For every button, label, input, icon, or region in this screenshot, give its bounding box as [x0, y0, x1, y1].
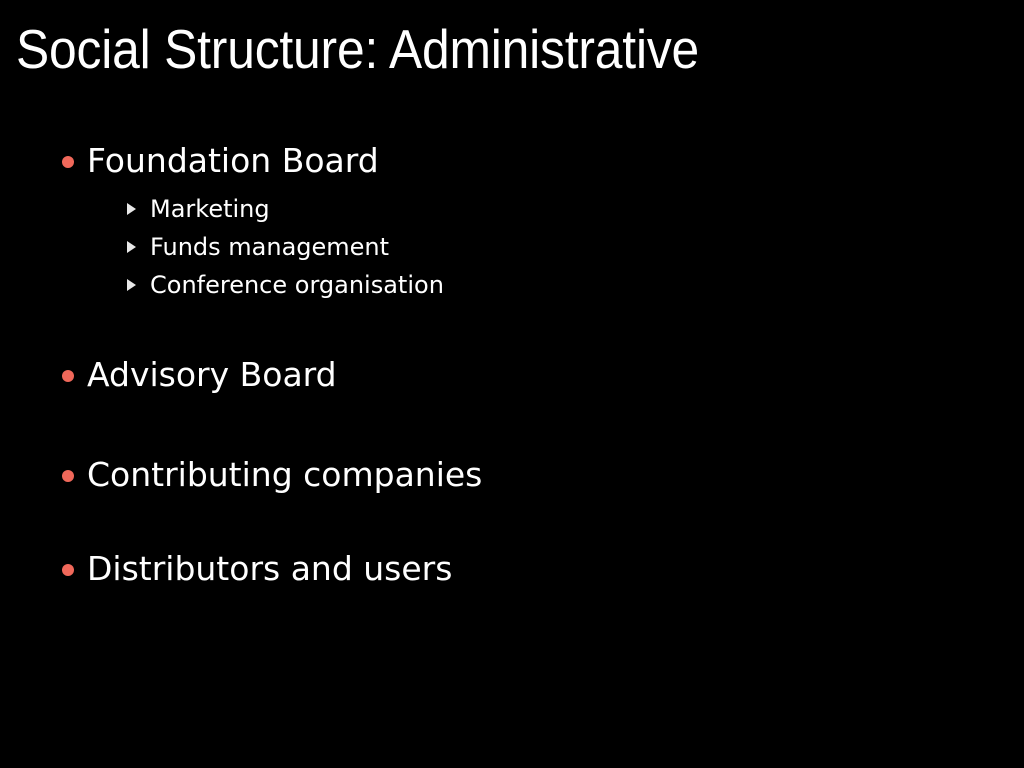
list-item[interactable]: Contributing companies	[0, 446, 1024, 504]
list-item[interactable]: Advisory Board	[0, 346, 1024, 404]
bullet-row[interactable]: Distributors and users	[0, 540, 1024, 598]
sub-list-item[interactable]: Conference organisation	[0, 266, 1024, 304]
sub-bullet-label: Conference organisation	[150, 266, 444, 304]
spacer	[0, 522, 1024, 540]
slide-content-list: Foundation Board Marketing Funds managem…	[0, 132, 1024, 598]
filled-circle-bullet-icon	[62, 470, 74, 482]
sub-list: Marketing Funds management Conference or…	[0, 190, 1024, 304]
sub-list-item[interactable]: Funds management	[0, 228, 1024, 266]
bullet-row[interactable]: Contributing companies	[0, 446, 1024, 504]
right-triangle-bullet-icon	[127, 241, 136, 253]
bullet-row[interactable]: Foundation Board	[0, 132, 1024, 190]
filled-circle-bullet-icon	[62, 564, 74, 576]
list-item[interactable]: Foundation Board Marketing Funds managem…	[0, 132, 1024, 304]
right-triangle-bullet-icon	[127, 203, 136, 215]
spacer	[0, 404, 1024, 446]
spacer	[0, 304, 1024, 346]
bullet-label: Distributors and users	[87, 540, 452, 598]
bullet-label: Contributing companies	[87, 446, 482, 504]
right-triangle-bullet-icon	[127, 279, 136, 291]
sub-bullet-label: Marketing	[150, 190, 270, 228]
spacer	[0, 504, 1024, 522]
sub-list-item[interactable]: Marketing	[0, 190, 1024, 228]
bullet-label: Foundation Board	[87, 132, 379, 190]
slide-title: Social Structure: Administrative	[16, 16, 914, 82]
bullet-label: Advisory Board	[87, 346, 337, 404]
presentation-slide: Social Structure: Administrative Foundat…	[0, 0, 1024, 768]
filled-circle-bullet-icon	[62, 370, 74, 382]
list-item[interactable]: Distributors and users	[0, 540, 1024, 598]
filled-circle-bullet-icon	[62, 156, 74, 168]
bullet-row[interactable]: Advisory Board	[0, 346, 1024, 404]
sub-bullet-label: Funds management	[150, 228, 389, 266]
